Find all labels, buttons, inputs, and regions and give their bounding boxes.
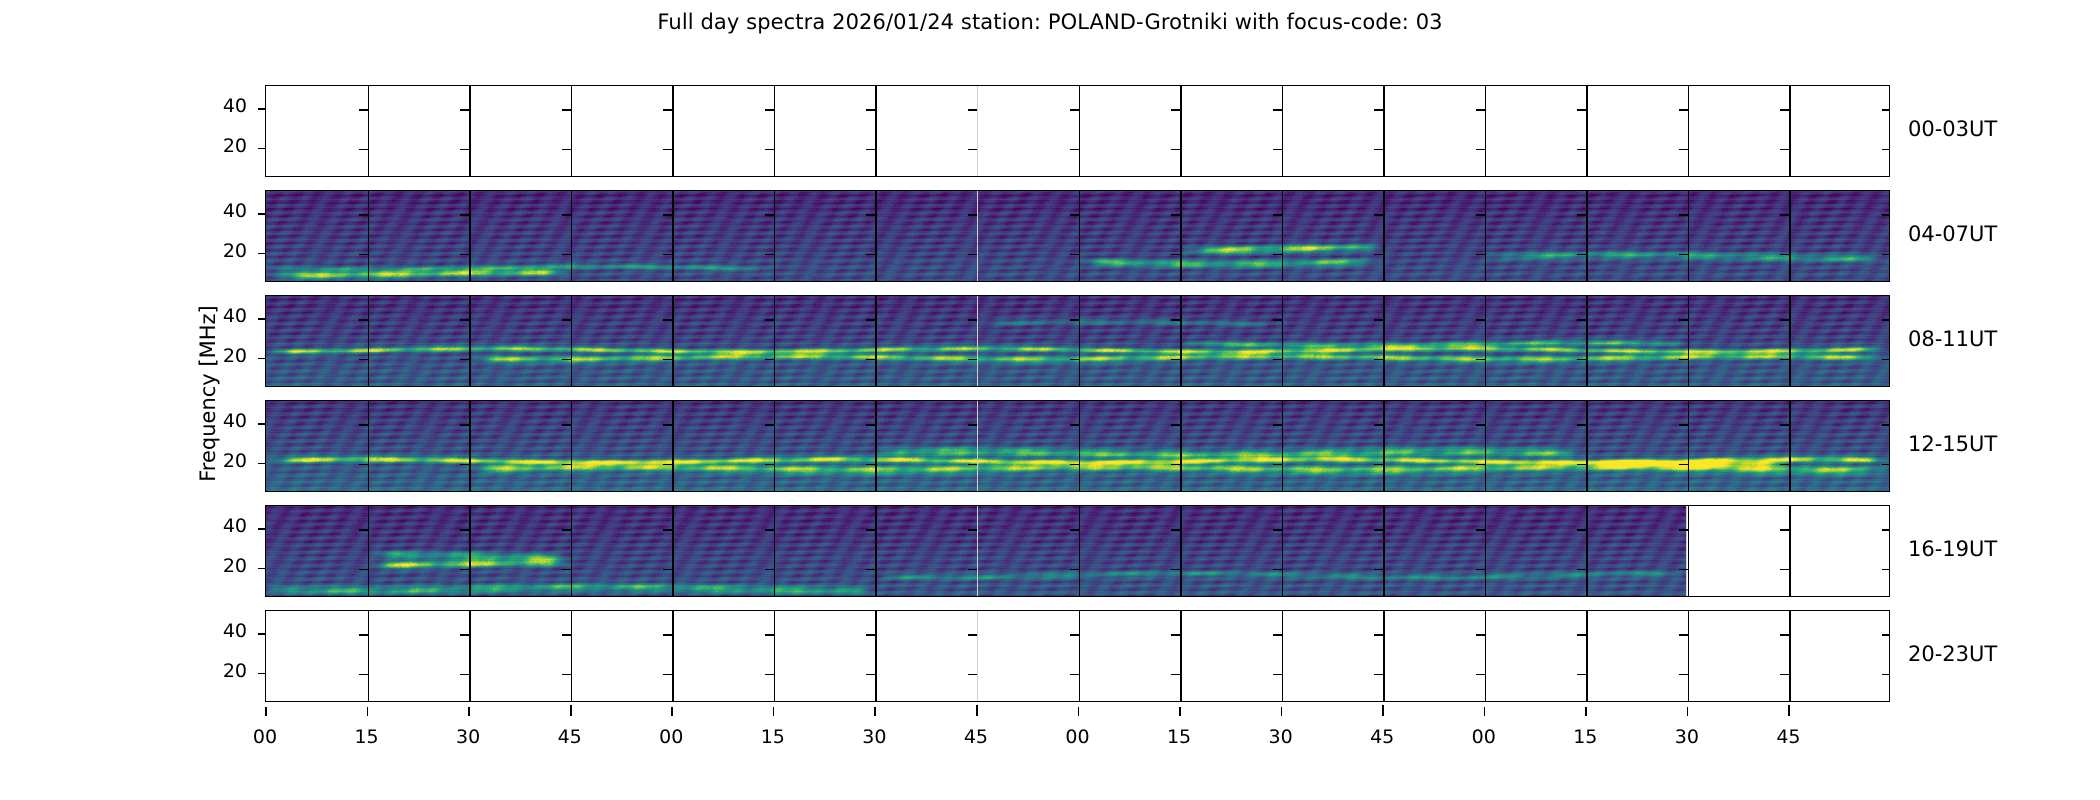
x-tick-mark [1179,707,1181,716]
x-tick-label: 30 [448,726,488,748]
spectrogram-canvas [266,401,1889,491]
x-tick-mark [874,707,876,716]
x-tick-label: 30 [854,726,894,748]
spectrogram-row-16-19ut [265,505,1890,597]
spectrogram-figure: Full day spectra 2026/01/24 station: POL… [0,0,2100,800]
x-tick-label: 00 [651,726,691,748]
spectrogram-row-20-23ut [265,610,1890,702]
x-tick-label: 45 [956,726,996,748]
x-tick-mark [367,707,369,716]
y-tick-mark-outer [258,108,265,110]
row-label-20-23ut: 20-23UT [1908,642,1997,666]
spectrogram-row-12-15ut [265,400,1890,492]
y-tick-label: 40 [187,200,247,222]
y-tick-label: 20 [187,660,247,682]
y-tick-label: 20 [187,450,247,472]
y-tick-label: 20 [187,135,247,157]
y-tick-mark-outer [258,213,265,215]
x-tick-mark [1788,705,1790,716]
y-tick-mark-outer [258,253,265,255]
x-tick-mark [976,705,978,716]
y-tick-label: 20 [187,555,247,577]
spectrogram-canvas [266,191,1889,281]
y-tick-mark-outer [258,148,265,150]
x-tick-mark [1078,707,1080,716]
figure-title: Full day spectra 2026/01/24 station: POL… [0,10,2100,34]
x-tick-mark [1585,707,1587,716]
x-tick-label: 15 [1159,726,1199,748]
spectrogram-canvas [266,86,1889,176]
x-tick-label: 00 [1058,726,1098,748]
y-tick-label: 40 [187,305,247,327]
x-tick-mark [265,707,267,716]
x-tick-mark [1484,707,1486,716]
y-axis-title: Frequency [MHz] [196,85,222,702]
spectrogram-canvas [266,611,1889,701]
y-tick-mark-outer [258,463,265,465]
row-label-04-07ut: 04-07UT [1908,222,1997,246]
spectrogram-canvas [266,506,1889,596]
x-tick-label: 00 [245,726,285,748]
spectrogram-row-00-03ut [265,85,1890,177]
y-tick-label: 40 [187,410,247,432]
y-tick-label: 20 [187,345,247,367]
spectrogram-row-04-07ut [265,190,1890,282]
x-tick-label: 15 [753,726,793,748]
x-tick-mark [468,707,470,716]
spectrogram-canvas [266,296,1889,386]
y-tick-mark-outer [258,673,265,675]
row-label-08-11ut: 08-11UT [1908,327,1997,351]
y-tick-mark-outer [258,358,265,360]
x-tick-mark [1382,705,1384,716]
y-tick-label: 40 [187,620,247,642]
y-tick-label: 40 [187,515,247,537]
spectrogram-row-08-11ut [265,295,1890,387]
x-tick-mark [570,705,572,716]
x-tick-mark [1281,707,1283,716]
x-tick-label: 30 [1667,726,1707,748]
x-tick-label: 45 [550,726,590,748]
y-axis-title-text: Frequency [MHz] [196,85,220,702]
row-label-00-03ut: 00-03UT [1908,117,1997,141]
x-tick-mark [671,707,673,716]
x-tick-label: 30 [1261,726,1301,748]
row-label-12-15ut: 12-15UT [1908,432,1997,456]
y-tick-mark-outer [258,423,265,425]
x-tick-mark [773,707,775,716]
x-tick-label: 45 [1768,726,1808,748]
x-tick-mark [1687,707,1689,716]
y-tick-mark-outer [258,633,265,635]
row-label-16-19ut: 16-19UT [1908,537,1997,561]
y-tick-label: 20 [187,240,247,262]
x-tick-label: 15 [347,726,387,748]
y-tick-mark-outer [258,318,265,320]
x-axis: 00153045001530450015304500153045 [265,716,1890,718]
x-tick-label: 45 [1362,726,1402,748]
y-tick-label: 40 [187,95,247,117]
x-tick-label: 00 [1464,726,1504,748]
x-tick-label: 15 [1565,726,1605,748]
y-tick-mark-outer [258,568,265,570]
y-tick-mark-outer [258,528,265,530]
